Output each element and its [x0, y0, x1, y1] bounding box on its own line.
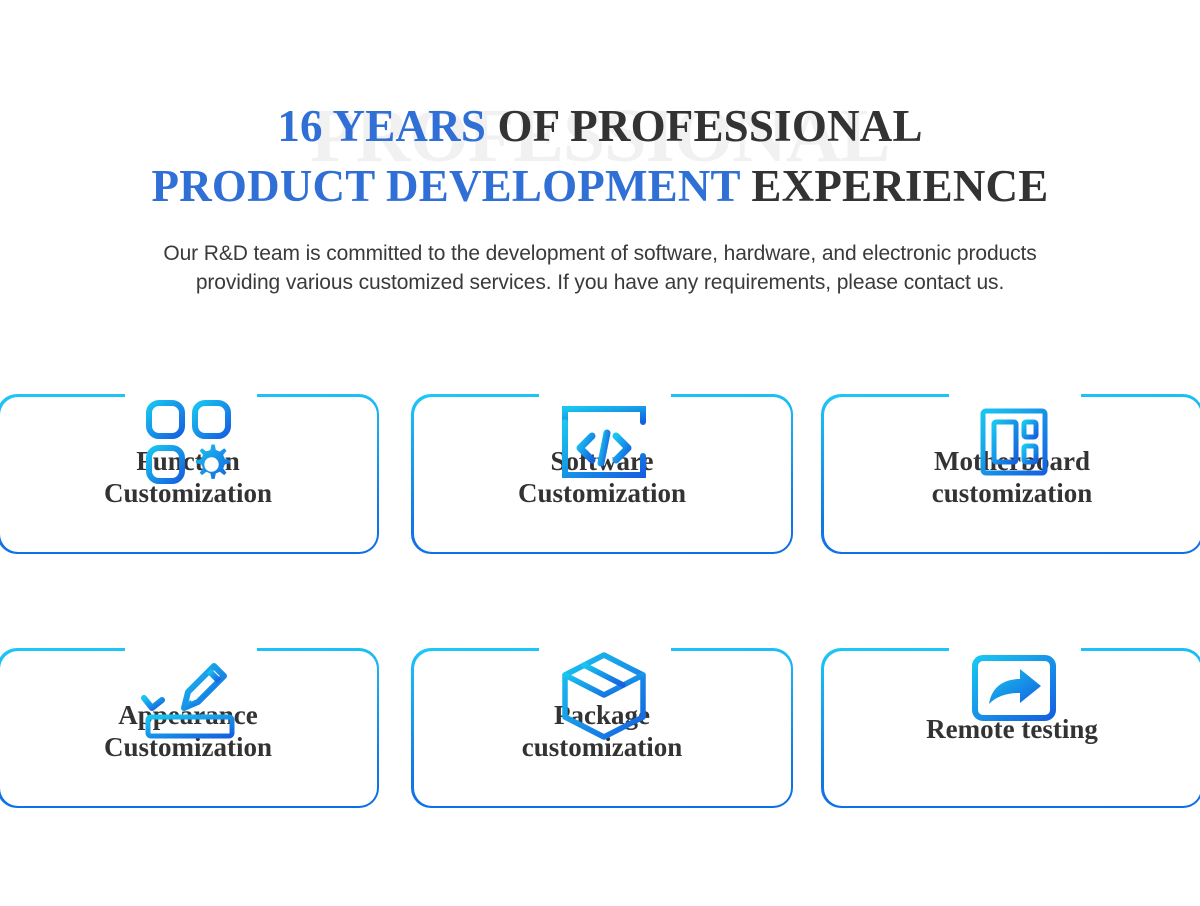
headline-rest-2: EXPERIENCE — [751, 161, 1048, 211]
code-window-icon — [548, 394, 660, 490]
headline-accent-product-development: PRODUCT DEVELOPMENT — [152, 161, 740, 211]
service-card-motherboard-customization[interactable]: Motherboard customization — [821, 394, 1200, 554]
page-subtitle: Our R&D team is committed to the develop… — [0, 239, 1200, 299]
cpu-chip-icon — [958, 394, 1070, 490]
service-card-appearance-customization[interactable]: Appearance Customization — [0, 648, 379, 808]
service-card-software-customization[interactable]: Software Customization — [411, 394, 793, 554]
headline-line-2: PRODUCT DEVELOPMENT EXPERIENCE — [0, 156, 1200, 216]
card-row-2: Appearance Customization — [0, 590, 1200, 840]
service-card-function-customization[interactable]: Function Customization — [0, 394, 379, 554]
service-card-package-customization[interactable]: Package customization — [411, 648, 793, 808]
page-title: 16 YEARS OF PROFESSIONAL PRODUCT DEVELOP… — [0, 96, 1200, 217]
headline-accent-years: 16 YEARS — [277, 101, 486, 151]
headline-line-1: 16 YEARS OF PROFESSIONAL — [0, 96, 1200, 156]
pencil-ruler-icon — [134, 648, 246, 744]
app-grid-gear-icon — [134, 394, 246, 490]
subtitle-line-1: Our R&D team is committed to the develop… — [0, 239, 1200, 269]
subtitle-line-2: providing various customized services. I… — [0, 268, 1200, 298]
headline-rest-1: OF PROFESSIONAL — [498, 101, 923, 151]
hero-header: PROFESSIONAL 16 YEARS OF PROFESSIONAL PR… — [0, 0, 1200, 298]
service-card-grid: Function Customization — [0, 336, 1200, 840]
service-card-remote-testing[interactable]: Remote testing — [821, 648, 1200, 808]
package-box-icon — [548, 648, 660, 744]
card-row-1: Function Customization — [0, 336, 1200, 586]
monitor-share-icon — [958, 648, 1070, 744]
